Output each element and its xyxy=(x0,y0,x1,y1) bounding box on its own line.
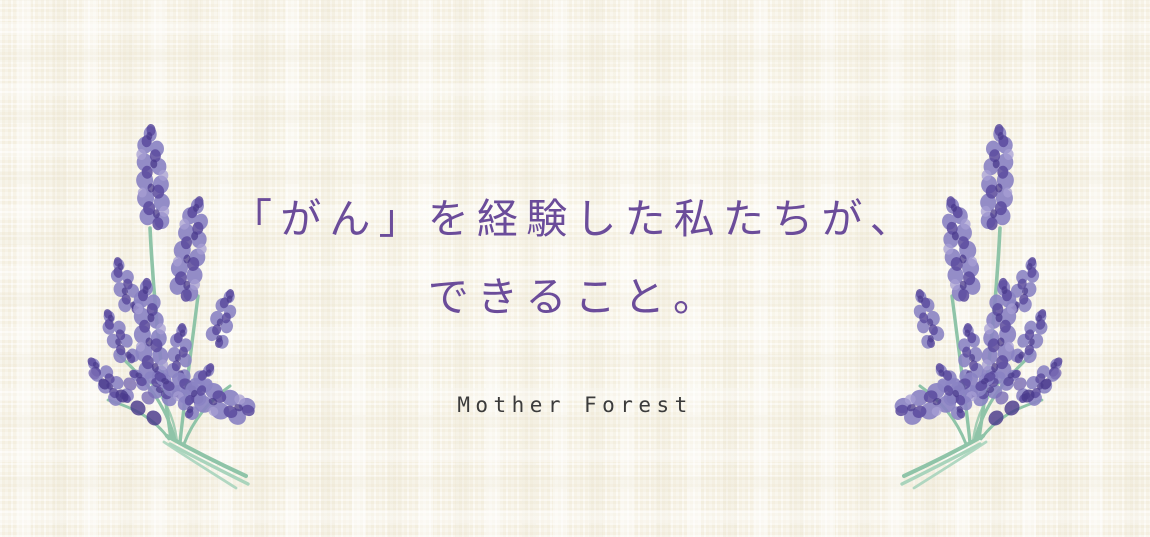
brand-name: Mother Forest xyxy=(457,393,692,417)
banner-copy: 「がん」を経験した私たちが、 できること。 Mother Forest xyxy=(0,0,1150,537)
headline-line-1: 「がん」を経験した私たちが、 xyxy=(231,199,919,240)
hero-banner: 「がん」を経験した私たちが、 できること。 Mother Forest xyxy=(0,0,1150,537)
headline-line-2: できること。 xyxy=(428,277,722,318)
